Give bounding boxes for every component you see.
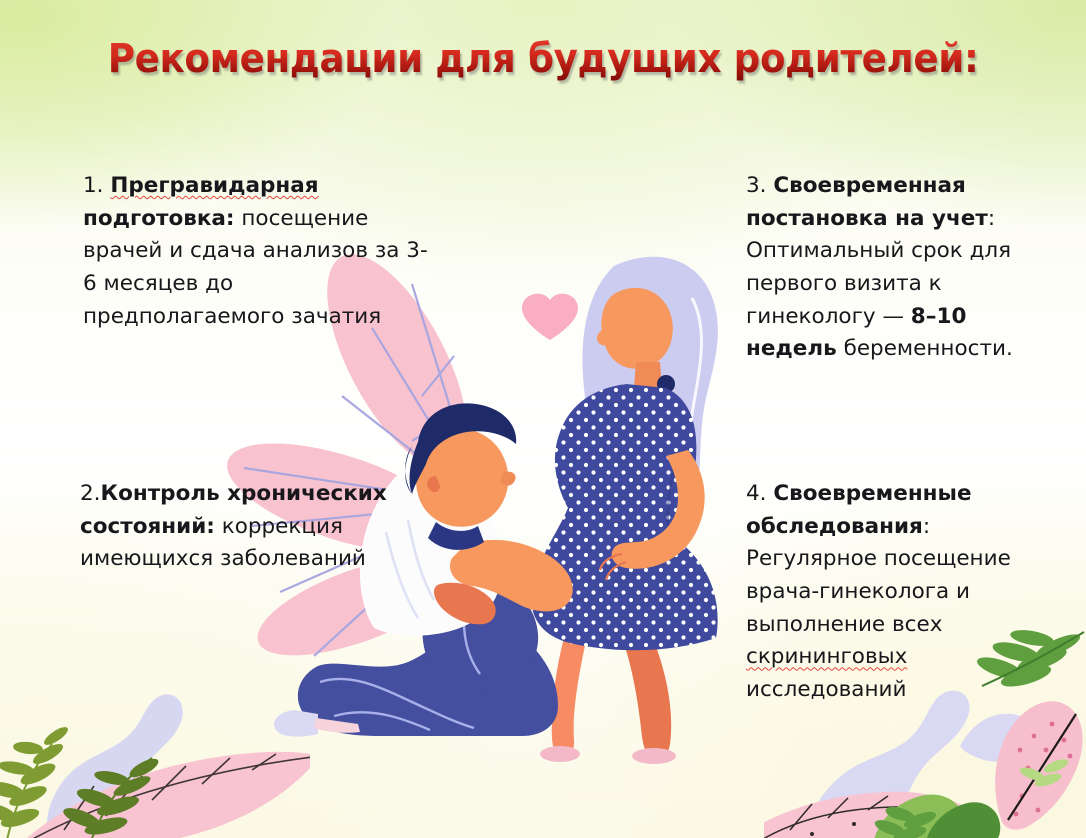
item-1-bold-lead-part-2: подготовка: xyxy=(83,206,235,231)
page-title: Рекомендации для будущих родителей: xyxy=(108,36,979,82)
item-1-bold-lead-part-1: Прегравидарная xyxy=(110,173,318,198)
item-4-colon: : xyxy=(923,514,930,539)
heart-decoration xyxy=(522,294,592,612)
item-3-colon: : xyxy=(988,206,995,231)
fern-frond xyxy=(6,744,52,838)
recommendation-item-2: 2.Контроль хронических состояний: коррек… xyxy=(80,478,410,576)
recommendation-item-3: 3. Своевременная постановка на учет: Опт… xyxy=(746,170,1046,366)
woman-dress xyxy=(531,384,717,650)
item-4-body-post: исследований xyxy=(746,677,906,702)
item-4-bold-lead: Своевременные обследования xyxy=(746,481,972,539)
man-arm xyxy=(450,540,573,611)
recommendation-item-4: 4. Своевременные обследования: Регулярно… xyxy=(746,478,1046,707)
pink-leaf xyxy=(16,752,310,838)
woman-hair-lavender xyxy=(576,257,718,583)
woman-figure xyxy=(531,288,717,764)
item-4-number: 4. xyxy=(746,481,767,506)
item-4-body-pre: Регулярное посещение врача-гинеколога и … xyxy=(746,546,1011,636)
item-3-body-pre: Оптимальный срок для первого визита к ги… xyxy=(746,238,1011,328)
item-3-bold-lead: Своевременная постановка на учет xyxy=(746,173,988,231)
item-2-number: 2. xyxy=(80,481,101,506)
pink-leaf xyxy=(764,792,974,838)
recommendation-item-1: 1. Прегравидарная подготовка: посещение … xyxy=(83,170,435,333)
man-pants xyxy=(298,622,558,736)
item-1-number: 1. xyxy=(83,173,104,198)
fern-frond xyxy=(61,755,161,838)
item-3-number: 3. xyxy=(746,173,767,198)
man-hair xyxy=(410,403,517,494)
poster-canvas: Рекомендации для будущих родителей: 1. П… xyxy=(0,0,1086,838)
item-3-body-post: беременности. xyxy=(837,336,1013,361)
title-bar: Рекомендации для будущих родителей: xyxy=(0,36,1086,82)
item-4-misspelled-word: скрининговых xyxy=(746,644,907,669)
woman-arm xyxy=(612,450,705,569)
man-head xyxy=(416,428,508,526)
pink-dotted-leaf xyxy=(995,701,1082,830)
floral-corner-bottom-left xyxy=(0,648,310,838)
